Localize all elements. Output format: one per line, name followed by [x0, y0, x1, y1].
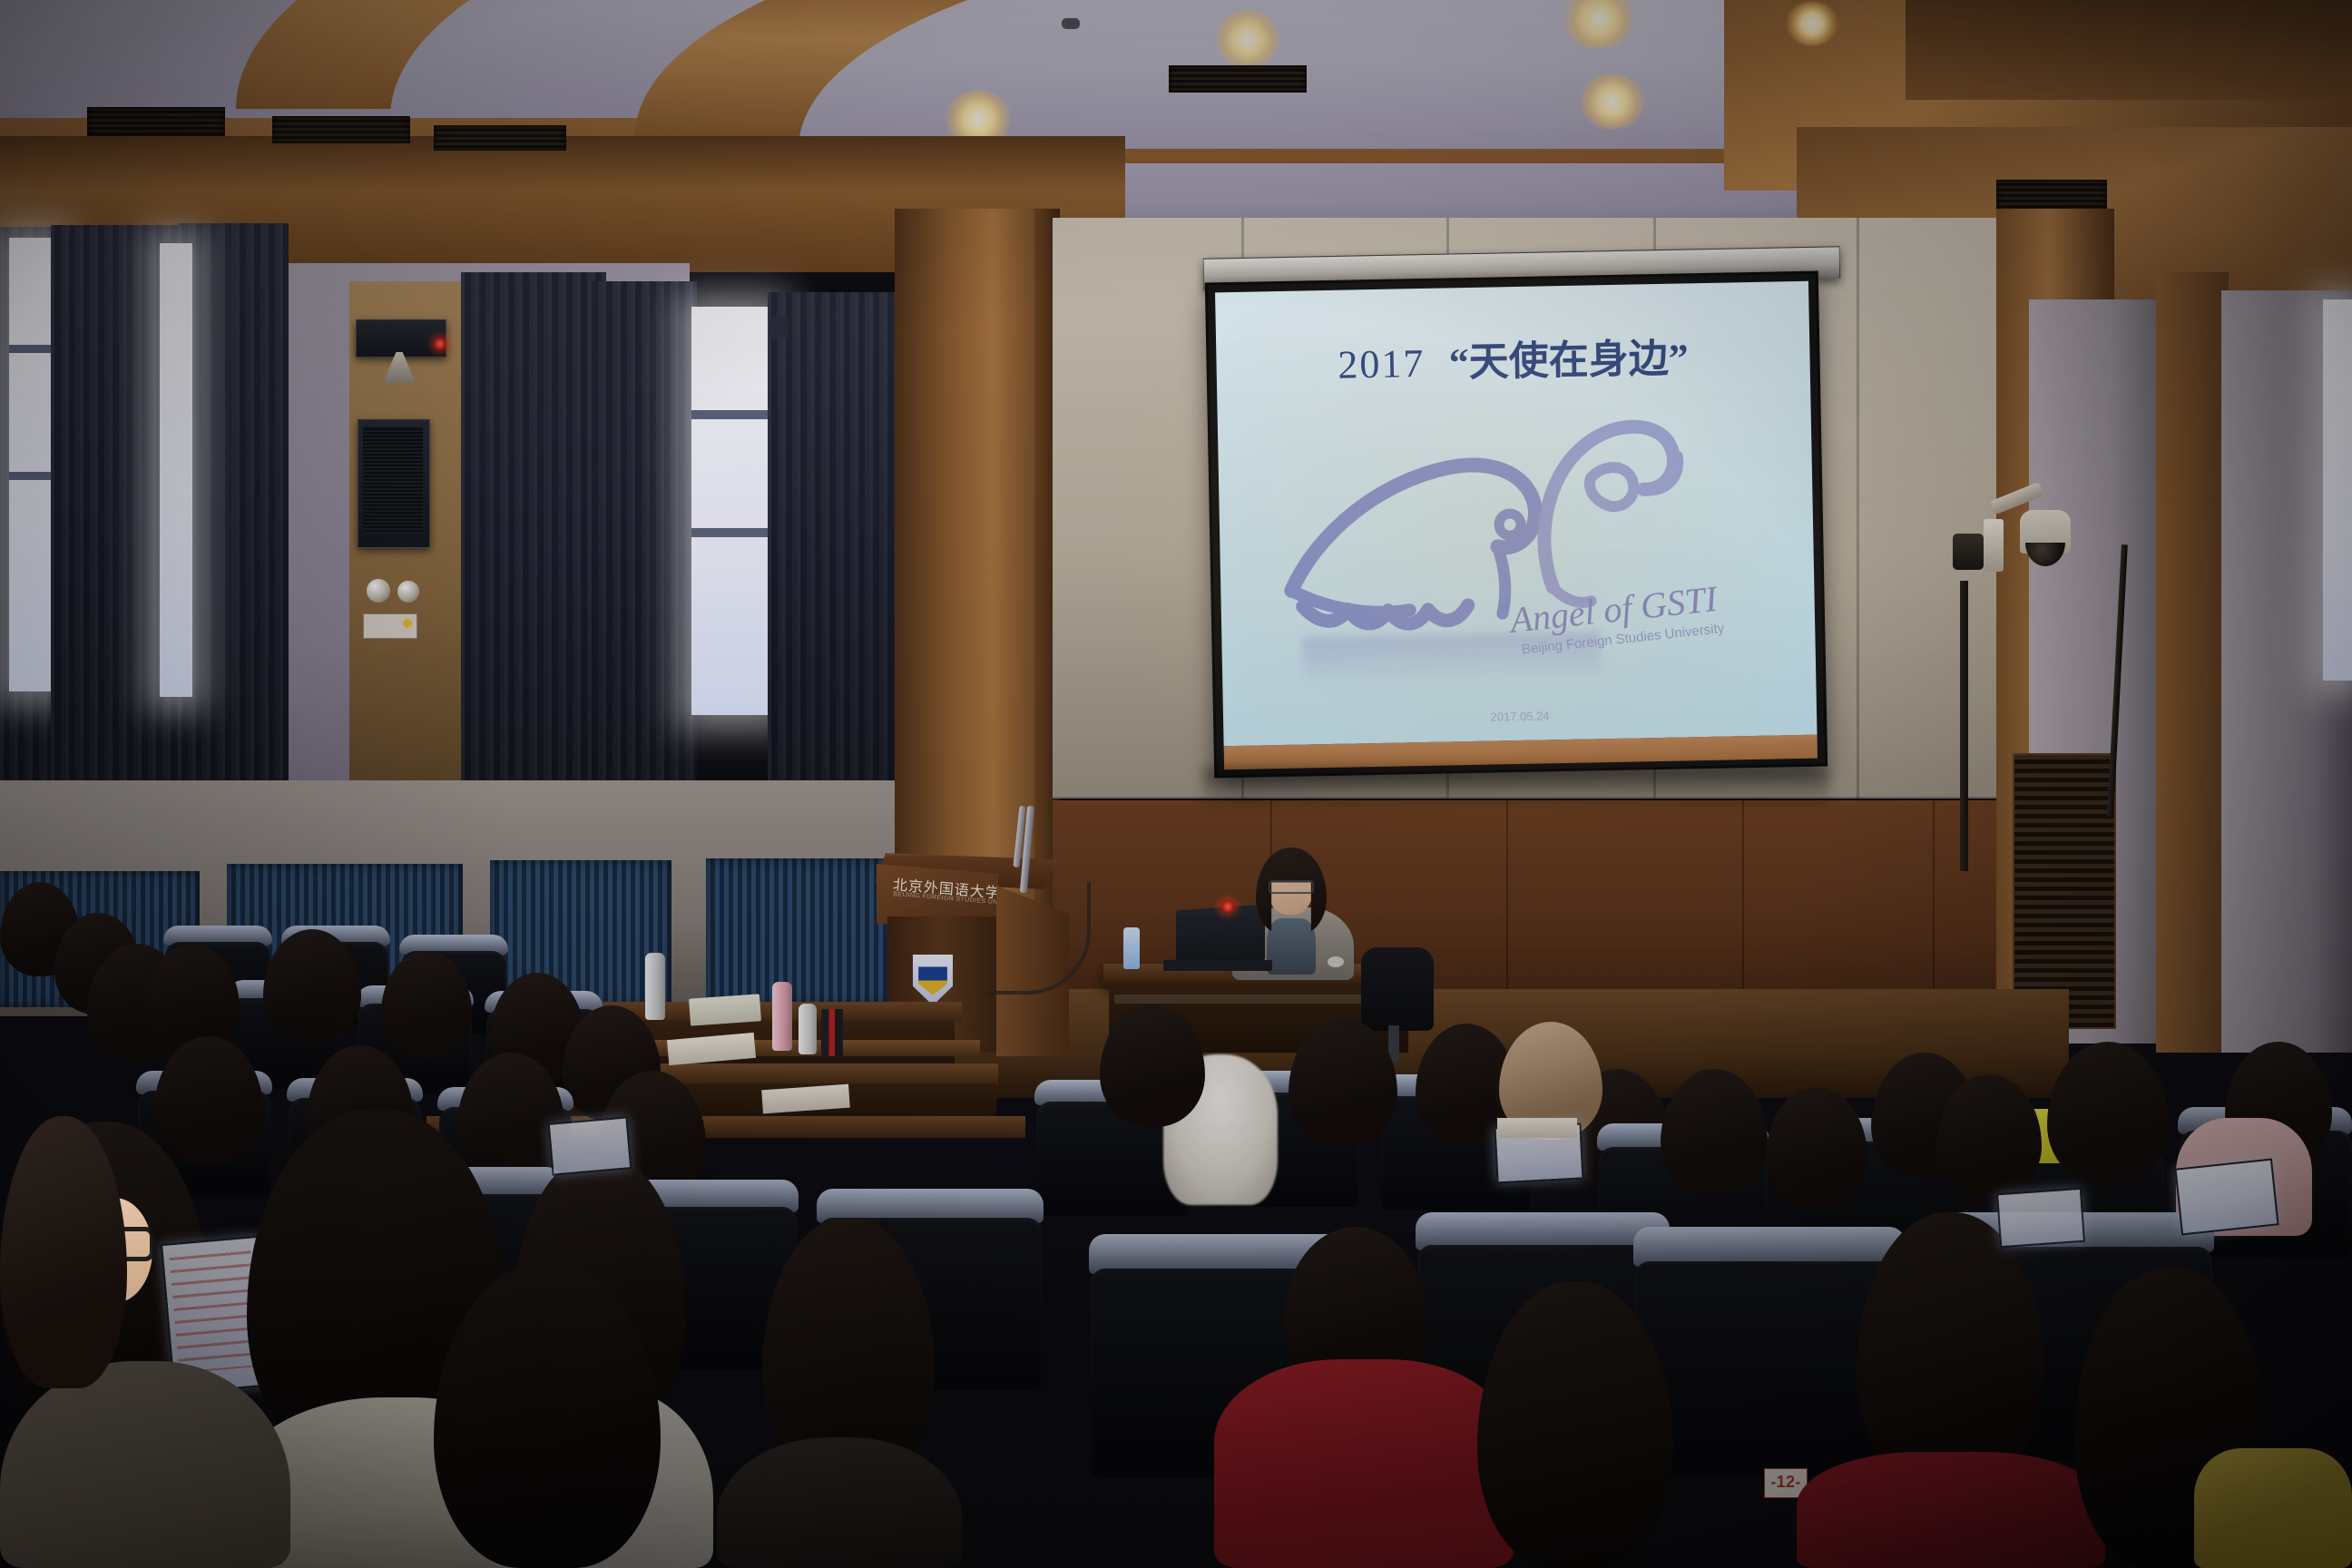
papers-on-table	[689, 994, 761, 1025]
presenter-keyboard	[1163, 960, 1272, 971]
mouse-icon	[1328, 956, 1344, 967]
ceiling-wood-right-edge	[1906, 0, 2352, 100]
presenter-laptop-led-icon	[1220, 900, 1235, 913]
window-mullion-l1b	[9, 472, 56, 480]
wall-knob-2-icon	[397, 581, 419, 603]
foreground-student-c3-top	[717, 1437, 962, 1568]
curtain-left-6	[768, 292, 895, 828]
screen-shadow	[1203, 768, 1829, 809]
wall-knob-1-icon	[367, 579, 390, 603]
window-left-2	[160, 243, 192, 697]
window-right	[2323, 299, 2352, 681]
front-wall-seam-4	[1857, 218, 1859, 799]
conduit-pipe	[1960, 581, 1968, 871]
notebook-center	[1497, 1118, 1577, 1138]
curtain-hook-icon	[769, 316, 788, 339]
downlight-3	[1579, 74, 1646, 129]
right-wall-wood-2	[2156, 272, 2229, 1053]
audience-laptop-r2[interactable]	[1996, 1188, 2085, 1248]
slide-date: 2017.05.24	[1223, 704, 1817, 730]
audience-laptop-r1[interactable]	[2174, 1159, 2278, 1236]
slide-title-row: 2017 “天使在身边”	[1216, 323, 1810, 393]
wall-plate-indicator-icon	[403, 619, 412, 628]
lecture-hall-photo: 2017 “天使在身边”	[0, 0, 2352, 1568]
presenter-glasses-icon	[1269, 880, 1314, 894]
thermos-white-2	[799, 1004, 817, 1054]
camera-wall-bracket	[1984, 519, 2004, 572]
audience-head-r2	[1766, 1087, 1867, 1209]
ceiling-vent-1	[87, 107, 225, 136]
foreground-student-r4-yellow-top	[2194, 1448, 2352, 1568]
window-mullion-l1a	[9, 345, 56, 353]
speaker-top	[356, 319, 446, 358]
right-grille-panel	[2013, 753, 2116, 1029]
water-bottle-desk	[1123, 927, 1140, 969]
audience-laptop-l1[interactable]	[548, 1116, 632, 1175]
wall-box-right	[1953, 534, 1984, 570]
curtain-left-3	[178, 223, 289, 822]
presenter-laptop-lid	[1176, 905, 1265, 967]
speaker-grille	[363, 426, 423, 534]
slide-surface: 2017 “天使在身边”	[1215, 281, 1817, 746]
slide-title-year: 2017	[1338, 341, 1426, 387]
projector-screen: 2017 “天使在身边”	[1208, 274, 1825, 776]
thermos-white	[645, 953, 665, 1020]
ceiling-vent-5	[1169, 65, 1307, 93]
curtain-left-5	[588, 281, 697, 808]
presenter-shirt	[1267, 918, 1316, 975]
slide-title-cn: “天使在身边”	[1448, 336, 1689, 385]
wall-vent-right	[1996, 180, 2107, 212]
window-mullion-l3a	[691, 410, 775, 419]
window-left-3	[691, 307, 775, 715]
downlight-1	[1214, 11, 1281, 67]
ceiling-vent-3	[434, 125, 566, 151]
window-left-1	[9, 238, 56, 691]
presenter-chair	[1361, 947, 1434, 1031]
speaker-led-icon	[434, 338, 446, 350]
container-red-black	[821, 1009, 843, 1056]
foreground-student-r2-red-top	[1797, 1452, 2105, 1568]
thermos-pink	[772, 982, 792, 1051]
window-mullion-l3b	[691, 528, 775, 537]
ceiling-vent-2	[272, 116, 410, 143]
downlight-6	[1786, 2, 1838, 45]
curtain-left-4	[461, 272, 606, 817]
ceiling-smoke-detector-icon	[1062, 18, 1080, 29]
foreground-red-sweater-body	[1214, 1359, 1514, 1568]
